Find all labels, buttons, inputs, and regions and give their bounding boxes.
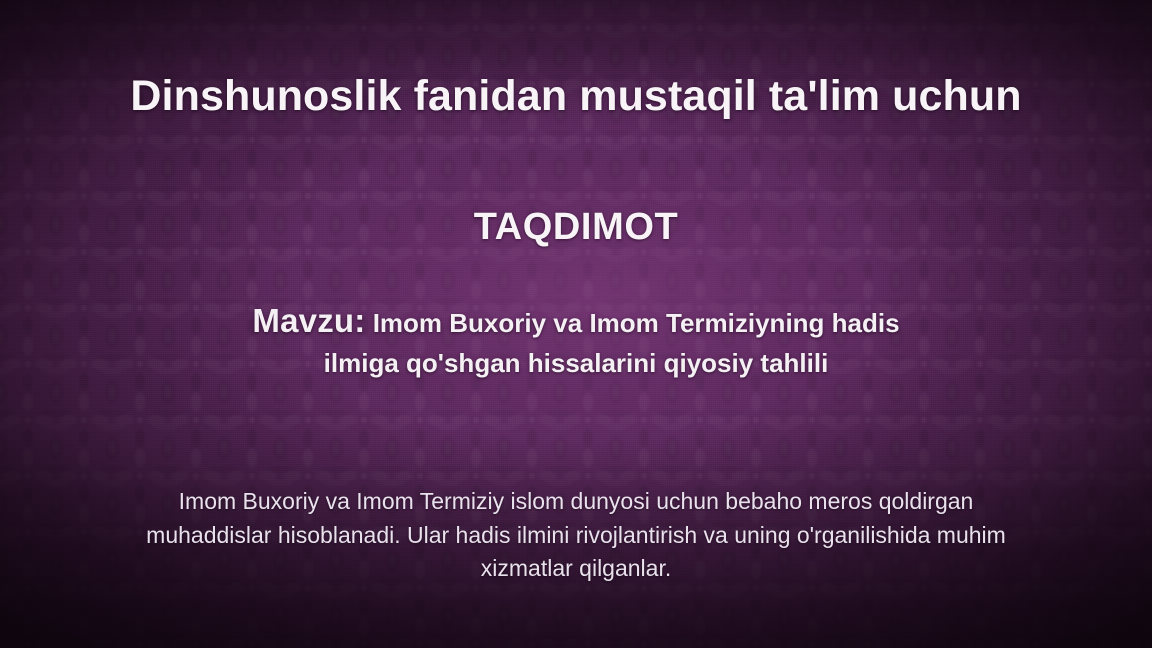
slide-content: Dinshunoslik fanidan mustaqil ta'lim uch…: [0, 0, 1152, 648]
topic-lead-label: Mavzu:: [252, 302, 365, 339]
slide-body-text: Imom Buxoriy va Imom Termiziy islom duny…: [0, 485, 1152, 586]
topic-spacer: [365, 308, 372, 338]
topic-text: Imom Buxoriy va Imom Termiziyning hadis …: [324, 308, 900, 378]
slide-topic: Mavzu: Imom Buxoriy va Imom Termiziyning…: [0, 298, 1152, 382]
presentation-slide: Dinshunoslik fanidan mustaqil ta'lim uch…: [0, 0, 1152, 648]
slide-subtitle: TAQDIMOT: [0, 206, 1152, 249]
slide-title: Dinshunoslik fanidan mustaqil ta'lim uch…: [0, 69, 1152, 124]
